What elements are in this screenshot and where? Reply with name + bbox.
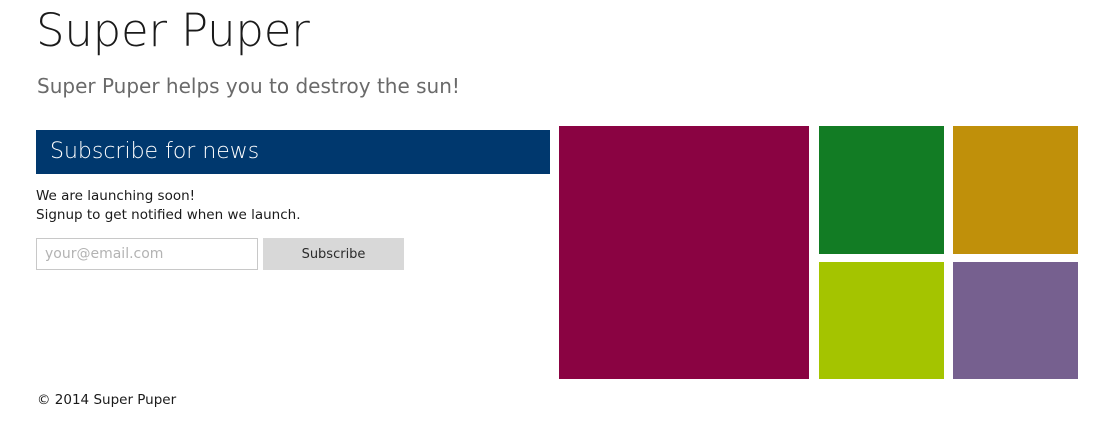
- tile-gold[interactable]: [953, 126, 1078, 254]
- tile-hero[interactable]: [559, 126, 809, 379]
- launch-notice-line-2: Signup to get notified when we launch.: [36, 206, 550, 225]
- signup-form: Subscribe: [36, 238, 404, 270]
- page-title: Super Puper: [36, 2, 310, 60]
- subscribe-panel-body: We are launching soon! Signup to get not…: [36, 174, 550, 270]
- subscribe-panel: Subscribe for news We are launching soon…: [36, 130, 550, 270]
- tile-lime[interactable]: [819, 262, 944, 379]
- tile-green[interactable]: [819, 126, 944, 254]
- subscribe-panel-header: Subscribe for news: [36, 130, 550, 174]
- launch-notice-line-1: We are launching soon!: [36, 187, 550, 206]
- email-input[interactable]: [36, 238, 258, 270]
- subscribe-button[interactable]: Subscribe: [263, 238, 404, 270]
- page-tagline: Super Puper helps you to destroy the sun…: [37, 73, 460, 99]
- tile-purple[interactable]: [953, 262, 1078, 379]
- footer-copyright: © 2014 Super Puper: [37, 391, 176, 409]
- landing-page: Super Puper Super Puper helps you to des…: [0, 0, 1111, 443]
